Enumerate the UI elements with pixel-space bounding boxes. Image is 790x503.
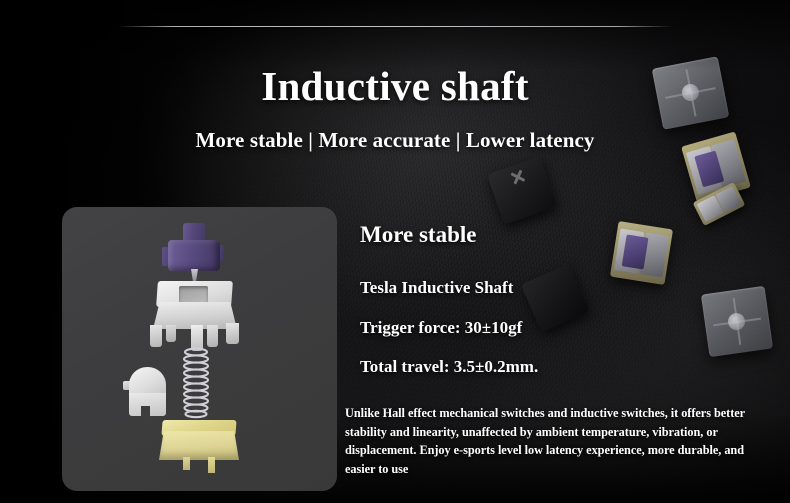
feature-heading: More stable <box>360 222 476 248</box>
slider-notch <box>141 406 150 418</box>
base-pin <box>208 457 215 473</box>
switch-stem-body <box>168 240 220 271</box>
feature-paragraph: Unlike Hall effect mechanical switches a… <box>345 404 761 479</box>
upper-housing-stem-hole <box>179 286 208 303</box>
upper-housing-leg <box>207 325 218 347</box>
spec-line-product: Tesla Inductive Shaft <box>360 278 513 298</box>
promo-banner: Inductive shaft More stable | More accur… <box>0 0 790 503</box>
exploded-switch-diagram <box>62 207 337 491</box>
upper-housing-leg <box>226 323 239 344</box>
spring-coil <box>180 347 212 419</box>
upper-housing-leg <box>150 325 162 347</box>
page-subtitle: More stable | More accurate | Lower late… <box>0 128 790 153</box>
product-image-panel <box>62 207 337 491</box>
spec-line-trigger-force: Trigger force: 30±10gf <box>360 318 522 338</box>
top-divider <box>118 26 672 27</box>
page-title: Inductive shaft <box>0 62 790 110</box>
spec-line-total-travel: Total travel: 3.5±0.2mm. <box>360 357 538 377</box>
base-pin <box>183 457 190 470</box>
upper-housing-leg <box>166 325 176 342</box>
base-body <box>159 431 239 460</box>
